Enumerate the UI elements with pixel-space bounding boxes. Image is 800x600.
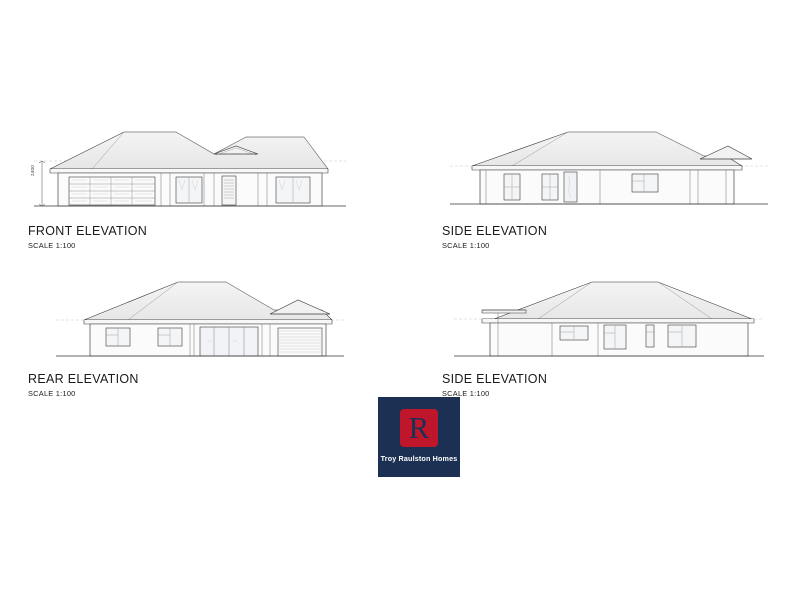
front-elevation-title: FRONT ELEVATION [28,225,147,238]
logo-brand-name: Troy Raulston Homes [381,454,458,463]
side-elevation-top-caption: SIDE ELEVATION SCALE 1:100 [442,225,547,250]
side-elevation-top-title: SIDE ELEVATION [442,225,547,238]
logo-monogram-mark: R [400,409,438,447]
front-elevation-drawing [28,118,348,218]
drawing-sheet: 2400 FRONT ELEVATION SCALE 1:100 [0,0,800,600]
rear-elevation-caption: REAR ELEVATION SCALE 1:100 [28,373,139,398]
front-elevation-dimension: 2400 [30,165,35,176]
front-elevation-caption: FRONT ELEVATION SCALE 1:100 [28,225,147,250]
logo-monogram-letter: R [409,412,430,443]
side-elevation-top-scale: SCALE 1:100 [442,241,547,250]
side-elevation-top-drawing [442,118,772,218]
side-elevation-bottom-caption: SIDE ELEVATION SCALE 1:100 [442,373,547,398]
company-logo: R Troy Raulston Homes [378,397,460,477]
front-elevation-scale: SCALE 1:100 [28,241,147,250]
rear-elevation-scale: SCALE 1:100 [28,389,139,398]
rear-elevation-drawing [30,272,350,372]
side-elevation-bottom-drawing [442,272,772,372]
rear-elevation-title: REAR ELEVATION [28,373,139,386]
side-elevation-bottom-title: SIDE ELEVATION [442,373,547,386]
